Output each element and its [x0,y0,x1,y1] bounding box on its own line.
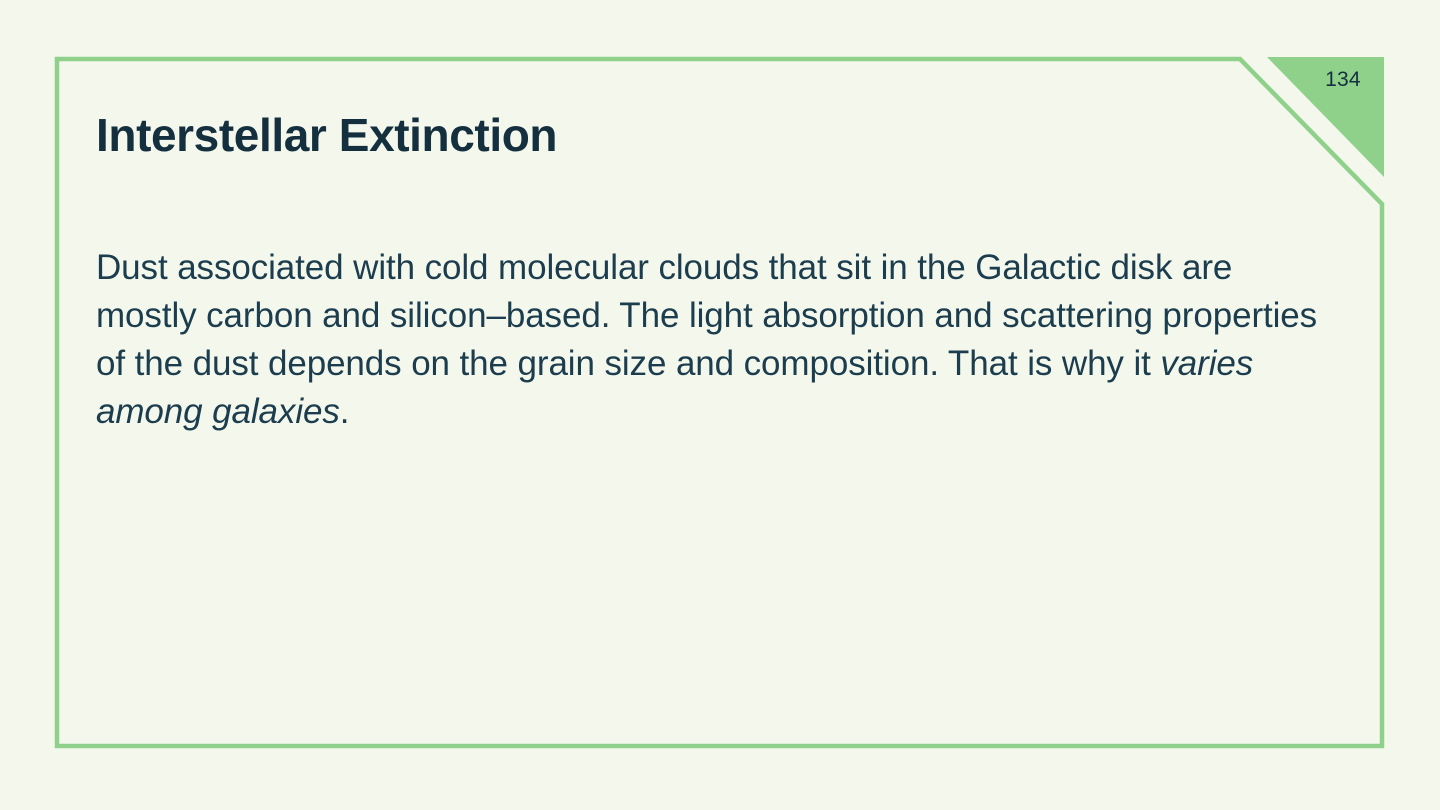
page-number: 134 [1309,69,1377,90]
body-text-lead: Dust associated with cold molecular clou… [96,248,1317,383]
slide: 134 Interstellar Extinction Dust associa… [0,0,1440,810]
page-title: Interstellar Extinction [96,108,557,162]
body-paragraph: Dust associated with cold molecular clou… [96,244,1326,436]
body-text-trail: . [340,392,350,431]
